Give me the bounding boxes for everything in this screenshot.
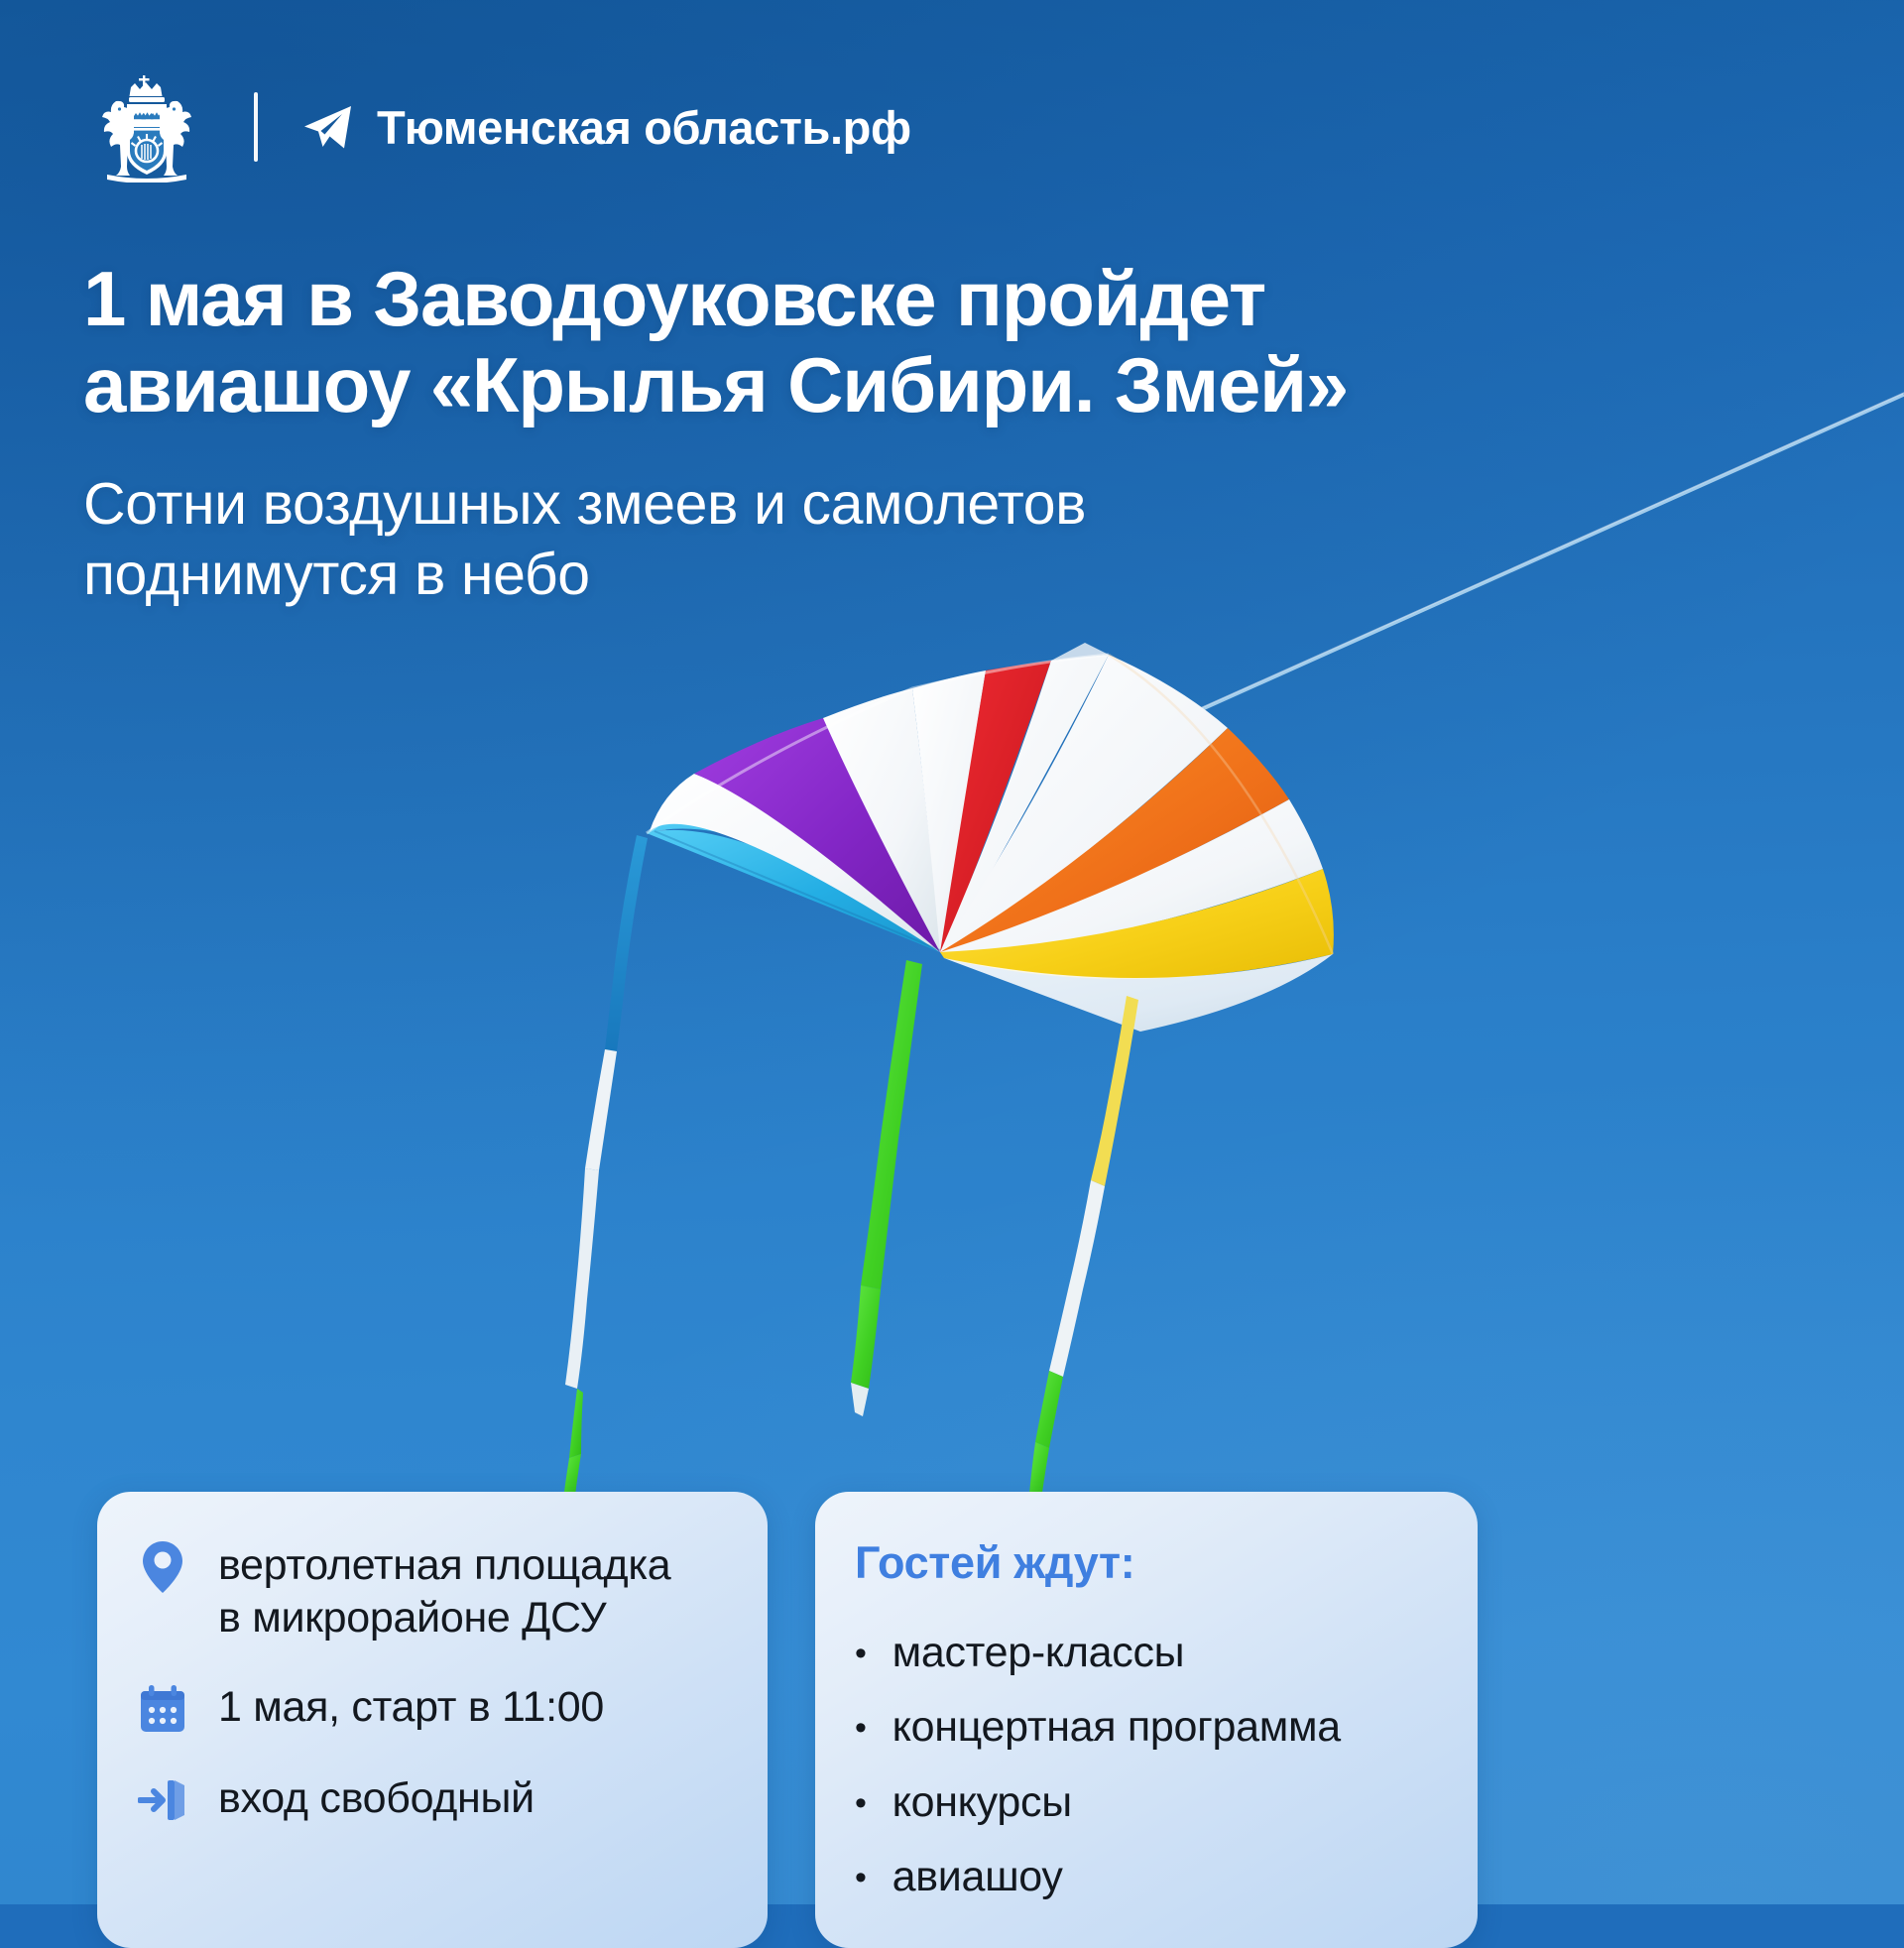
telegram-channel-name: Тюменская область.рф [377,100,911,155]
hero-text-block: 1 мая в Заводоуковске пройдет авиашоу «К… [83,256,1630,609]
list-item: • авиашоу [855,1853,1438,1901]
location-pin-icon [137,1539,188,1595]
header-divider [254,92,258,162]
info-text-date: 1 мая, старт в 11:00 [218,1679,604,1734]
list-item-label: авиашоу [892,1853,1063,1901]
event-details-card: вертолетная площадка в микрорайоне ДСУ 1… [97,1492,768,1948]
info-row-date: 1 мая, старт в 11:00 [137,1679,728,1737]
list-item: • конкурсы [855,1778,1438,1827]
telegram-plane-icon [301,103,353,151]
bullet-icon: • [855,1786,867,1820]
brand-header: Тюменская область.рф [83,71,911,183]
bullet-icon: • [855,1861,867,1894]
calendar-icon [137,1681,188,1737]
telegram-channel-link[interactable]: Тюменская область.рф [301,100,911,155]
info-text-location: вертолетная площадка в микрорайоне ДСУ [218,1537,670,1645]
bullet-icon: • [855,1711,867,1745]
list-item-label: концертная программа [892,1703,1341,1752]
list-item: • мастер-классы [855,1629,1438,1677]
bottom-cards: вертолетная площадка в микрорайоне ДСУ 1… [97,1492,1505,1948]
list-item: • концертная программа [855,1703,1438,1752]
info-text-entrance: вход свободный [218,1770,535,1825]
guests-card: Гостей ждут: • мастер-классы • концертна… [815,1492,1478,1948]
info-row-location: вертолетная площадка в микрорайоне ДСУ [137,1537,728,1645]
entrance-door-icon [137,1772,188,1828]
guests-card-title: Гостей ждут: [855,1537,1438,1589]
page-title: 1 мая в Заводоуковске пройдет авиашоу «К… [83,256,1630,429]
page-subtitle: Сотни воздушных змеев и самолетов подним… [83,469,1630,610]
list-item-label: конкурсы [892,1778,1072,1827]
bullet-icon: • [855,1637,867,1670]
list-item-label: мастер-классы [892,1629,1185,1677]
coat-of-arms-icon [83,71,210,183]
guests-activity-list: • мастер-классы • концертная программа •… [855,1629,1438,1902]
info-row-entrance: вход свободный [137,1770,728,1828]
